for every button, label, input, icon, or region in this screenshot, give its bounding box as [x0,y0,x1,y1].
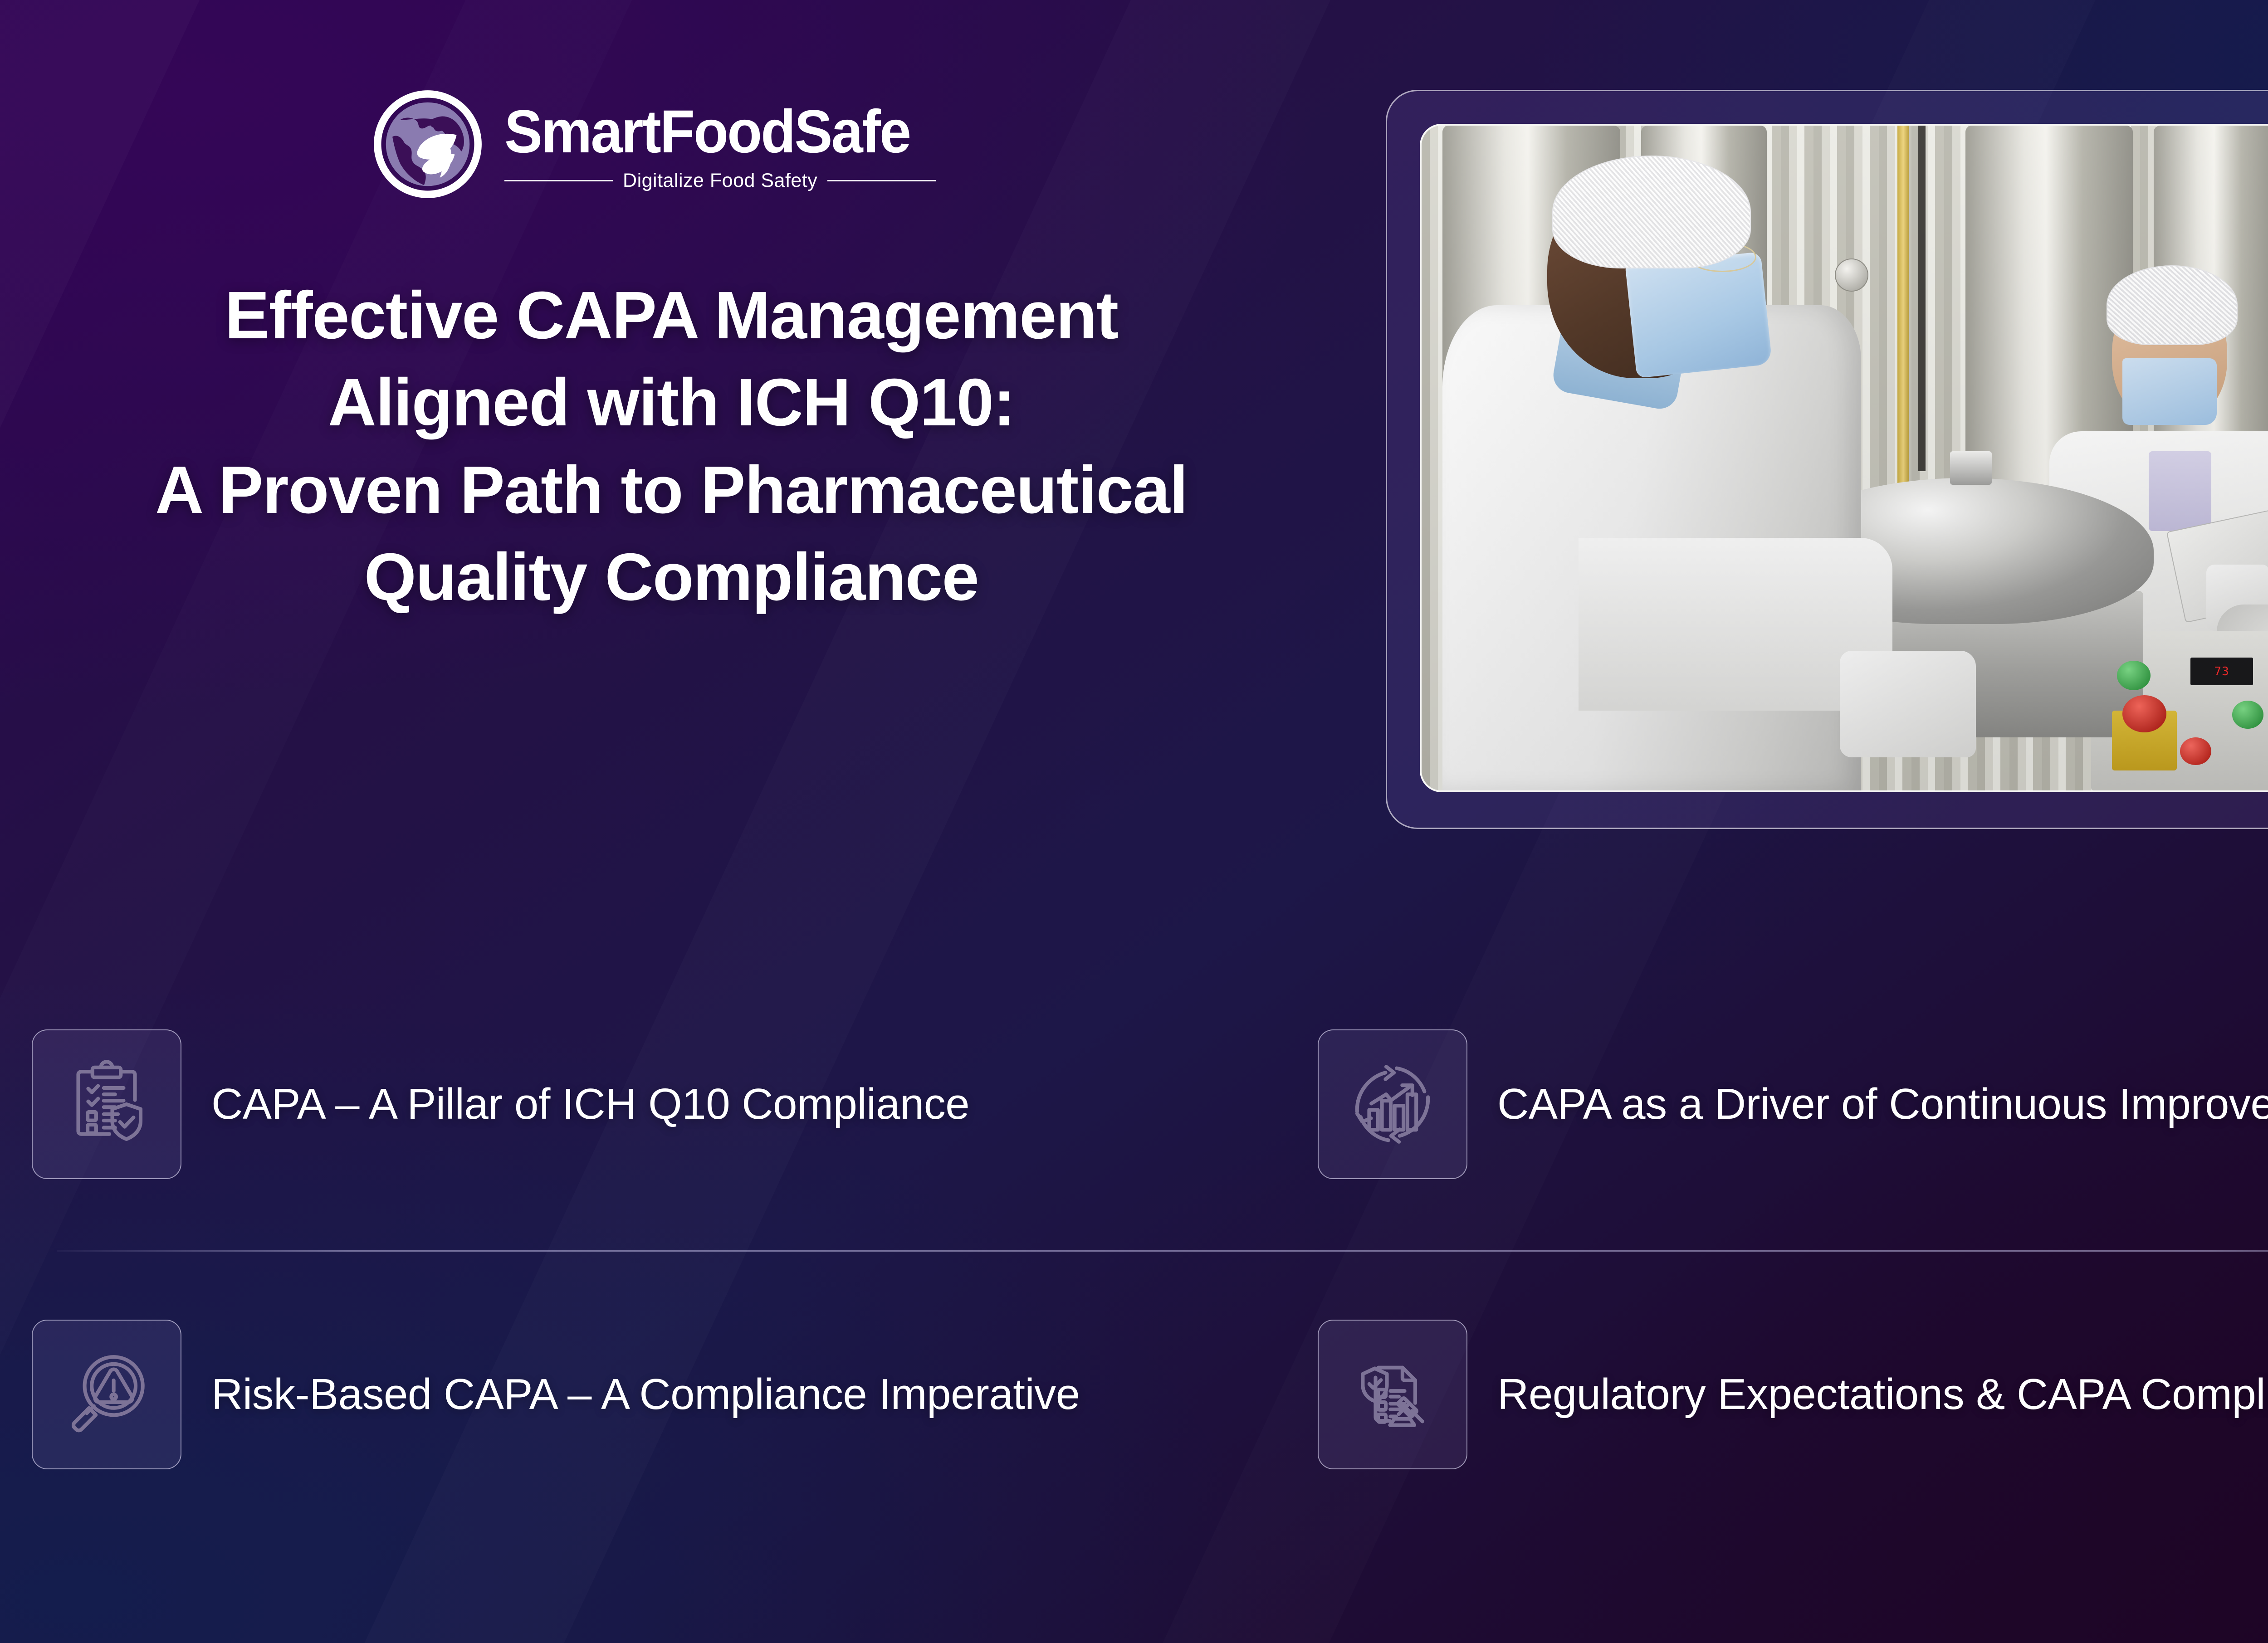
document-shield-gavel-icon [1318,1320,1467,1469]
brand-wordmark: SmartFoodSafe [504,102,910,162]
bar-chart-growth-cycle-icon [1318,1029,1467,1179]
feature-row-divider [57,1250,2268,1252]
feature-grid: CAPA – A Pillar of ICH Q10 Compliance [0,1011,2268,1524]
photo-overlay [1422,126,2268,790]
feature-label: CAPA – A Pillar of ICH Q10 Compliance [211,1079,969,1129]
tagline-rule-left [504,180,613,181]
feature-item-capa-pillar[interactable]: CAPA – A Pillar of ICH Q10 Compliance [32,1029,969,1179]
feature-label: CAPA as a Driver of Continuous Improveme… [1497,1079,2268,1129]
slide-canvas: SmartFoodSafe Digitalize Food Safety Eff… [0,0,2268,1643]
page-title: Effective CAPA Management Aligned with I… [27,272,1315,621]
left-content-column: SmartFoodSafe Digitalize Food Safety Eff… [0,0,1343,862]
feature-label: Regulatory Expectations & CAPA Complianc… [1497,1370,2268,1419]
brand-logo: SmartFoodSafe Digitalize Food Safety [372,88,936,200]
brand-tagline-row: Digitalize Food Safety [504,170,936,192]
tagline-rule-right [827,180,936,181]
feature-item-continuous-improvement[interactable]: CAPA as a Driver of Continuous Improveme… [1318,1029,2268,1179]
title-line-2: Aligned with ICH Q10: [27,359,1315,446]
brand-tagline: Digitalize Food Safety [623,170,817,192]
hero-image-frame: 73 [1386,90,2268,829]
title-line-4: Quality Compliance [27,534,1315,621]
title-line-1: Effective CAPA Management [27,272,1315,359]
magnifier-warning-icon [32,1320,181,1469]
feature-item-risk-based-capa[interactable]: Risk-Based CAPA – A Compliance Imperativ… [32,1320,1080,1469]
clipboard-checklist-shield-icon [32,1029,181,1179]
feature-label: Risk-Based CAPA – A Compliance Imperativ… [211,1370,1080,1419]
title-line-3: A Proven Path to Pharmaceutical [27,447,1315,534]
feature-item-regulatory-expectations[interactable]: Regulatory Expectations & CAPA Complianc… [1318,1320,2268,1469]
brand-text: SmartFoodSafe Digitalize Food Safety [504,97,936,192]
globe-leaf-logo-icon [372,88,484,200]
hero-image: 73 [1420,124,2268,792]
